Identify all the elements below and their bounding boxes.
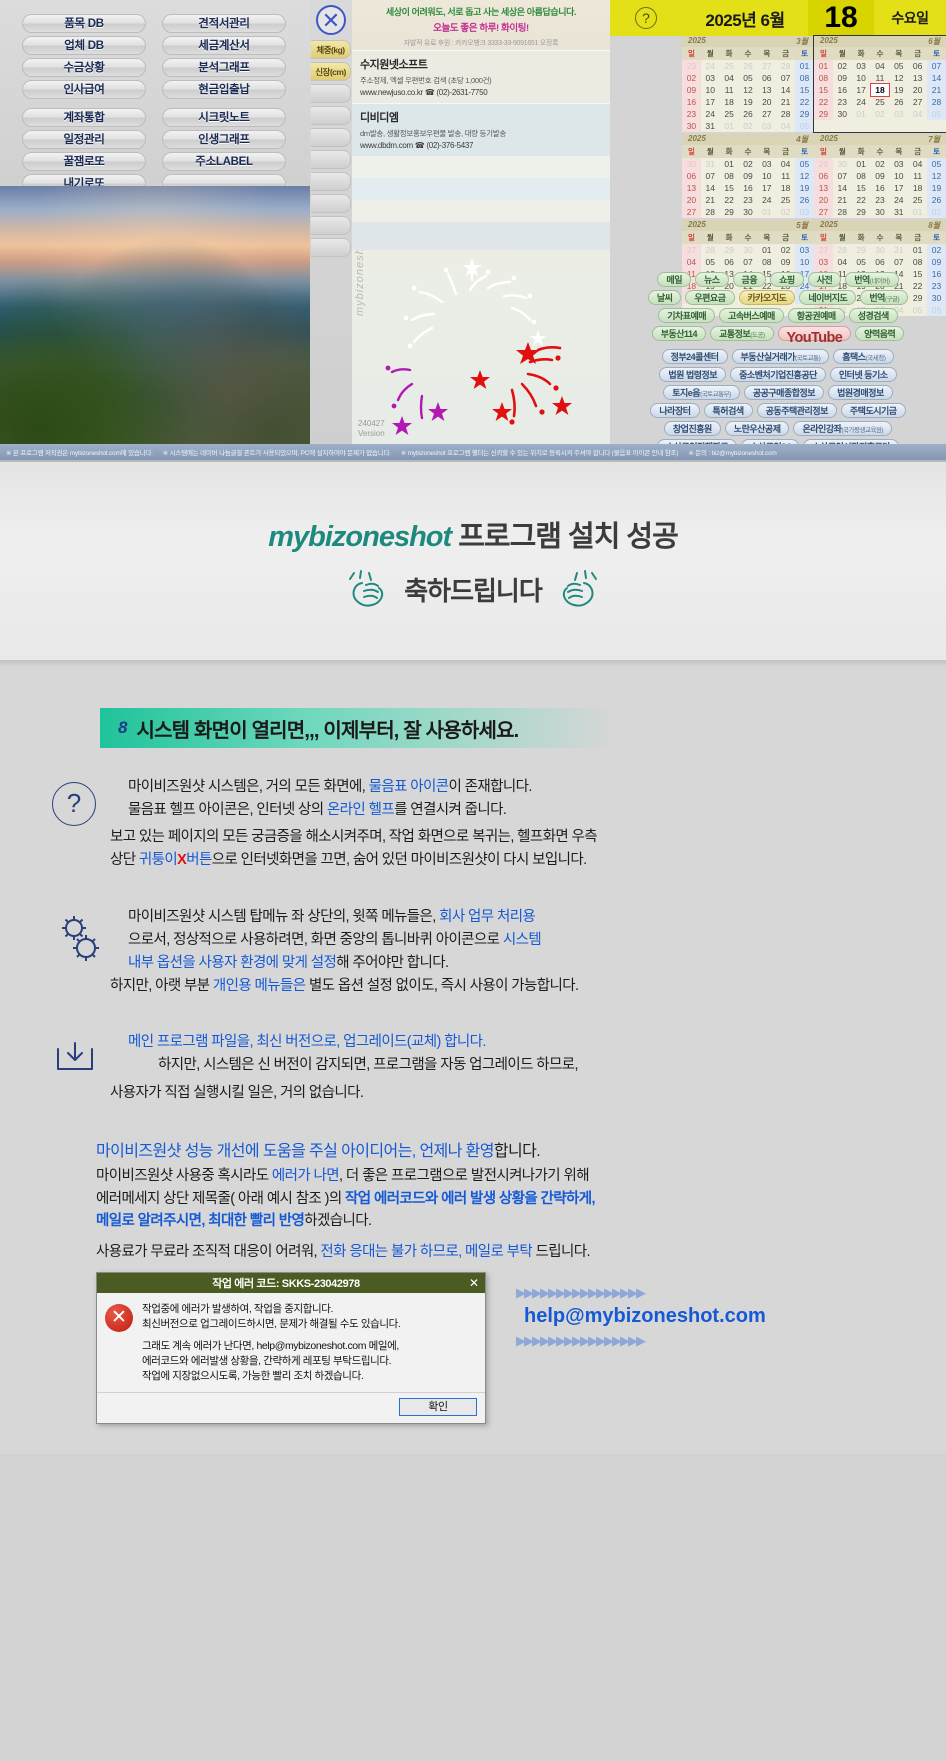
quick-link-sublabel: (국토교통) — [795, 355, 820, 362]
calendar-day-cell[interactable]: 30 — [682, 120, 701, 132]
calendar-day-cell[interactable]: 27 — [757, 60, 776, 72]
ok-button[interactable]: 확인 — [399, 1398, 477, 1416]
calendar-day-cell[interactable]: 02 — [833, 60, 852, 72]
calendar-day-cell[interactable]: 03 — [814, 256, 833, 268]
calendar-day-cell[interactable]: 18 — [720, 96, 739, 108]
calendar-day-cell[interactable]: 13 — [814, 182, 833, 194]
calendar-day-cell[interactable]: 23 — [833, 96, 852, 108]
quick-link-button[interactable]: 메일 — [657, 272, 691, 287]
quick-link-button[interactable]: 공동주택관리정보 — [757, 403, 837, 418]
calendar-day-cell[interactable]: 02 — [776, 206, 795, 218]
calendar-day-cell[interactable]: 09 — [739, 170, 758, 182]
dow-header: 화 — [720, 145, 739, 158]
quick-link-button[interactable]: 토지e음(국토교통부) — [663, 385, 740, 400]
calendar-day-cell[interactable]: 09 — [833, 72, 852, 84]
calendar-day-cell[interactable]: 23 — [739, 194, 758, 206]
calendar-day-cell[interactable]: 21 — [927, 84, 946, 96]
calendar-day-cell[interactable]: 01 — [908, 206, 927, 218]
calendar-day-cell[interactable]: 26 — [739, 60, 758, 72]
text-run-x: X — [177, 852, 186, 868]
text-run: 이 존재합니다. — [448, 779, 531, 795]
menu-button[interactable]: 계좌통합 — [22, 108, 146, 127]
calendar-day-cell[interactable]: 04 — [833, 256, 852, 268]
calendar-day-cell[interactable]: 30 — [871, 206, 890, 218]
menu-button[interactable]: 현금입출납 — [162, 80, 286, 99]
calendar-day-cell[interactable]: 03 — [795, 244, 814, 256]
quick-link-button[interactable]: 인터넷 등기소 — [830, 367, 897, 382]
mini-calendar[interactable]: 20257월일월화수목금토293001020304050607080910111… — [814, 134, 946, 218]
calendar-day-cell[interactable]: 30 — [682, 158, 701, 170]
ad-slot-empty[interactable] — [352, 200, 610, 222]
dialog-body: ✕ 작업중에 에러가 발생하여, 작업을 중지합니다. 최신버전으로 업그레이드… — [97, 1293, 485, 1392]
calendar-day-cell[interactable]: 20 — [814, 194, 833, 206]
calendar-day-cell[interactable]: 20 — [757, 96, 776, 108]
calendar-day-cell[interactable]: 02 — [927, 206, 946, 218]
calendar-day-cell[interactable]: 11 — [871, 72, 890, 84]
quick-link-button[interactable]: 공공구매종합정보 — [744, 385, 824, 400]
fireworks-graphic — [352, 250, 610, 444]
calendar-day-cell[interactable]: 08 — [720, 170, 739, 182]
quick-link-label: 토지e음 — [672, 388, 700, 398]
mini-calendar-header: 20255월 — [682, 220, 814, 231]
calendar-day-cell[interactable]: 09 — [776, 256, 795, 268]
calendar-day-cell[interactable]: 10 — [889, 170, 908, 182]
calendar-day-cell[interactable]: 15 — [852, 182, 871, 194]
calendar-day-cell[interactable]: 18 — [776, 182, 795, 194]
calendar-day-cell[interactable]: 18 — [871, 84, 890, 96]
quick-link-label: 항공권예매 — [797, 311, 836, 321]
calendar-day-cell[interactable]: 01 — [757, 206, 776, 218]
tab-empty[interactable]: . — [311, 106, 351, 125]
calendar-day-cell[interactable]: 02 — [871, 108, 890, 120]
menu-button[interactable]: 시크릿노트 — [162, 108, 286, 127]
quick-link-button[interactable]: 나라장터 — [650, 403, 699, 418]
calendar-day-cell[interactable]: 05 — [927, 158, 946, 170]
calendar-day-cell[interactable]: 01 — [757, 244, 776, 256]
mini-calendar-table: 일월화수목금토010203040506070809101112131415161… — [814, 47, 946, 120]
calendar-day-cell[interactable]: 29 — [852, 206, 871, 218]
calendar-day-cell[interactable]: 05 — [889, 60, 908, 72]
link-row: 창업진흥원노란우산공제온라인강좌(국가평생교육원) — [610, 421, 946, 436]
tab-empty[interactable]: . — [311, 150, 351, 169]
calendar-day-cell[interactable]: 29 — [720, 244, 739, 256]
calendar-day-cell[interactable]: 05 — [927, 108, 946, 120]
quick-link-button[interactable]: 교통정보(도공) — [710, 326, 773, 341]
quick-link-button[interactable]: 노란우산공제 — [725, 421, 790, 436]
dow-header: 월 — [701, 47, 720, 60]
calendar-day-cell[interactable]: 15 — [720, 182, 739, 194]
calendar-day-cell[interactable]: 30 — [833, 158, 852, 170]
calendar-day-cell[interactable]: 06 — [682, 170, 701, 182]
calendar-day-cell[interactable]: 29 — [814, 108, 833, 120]
calendar-day-cell[interactable]: 02 — [739, 120, 758, 132]
mini-calendar-header: 20253월 — [682, 36, 814, 47]
calendar-day-cell[interactable]: 19 — [739, 96, 758, 108]
quick-link-label: 번역 — [854, 275, 870, 285]
tab-height[interactable]: 신장(cm) — [311, 62, 351, 81]
calendar-day-cell[interactable]: 31 — [889, 244, 908, 256]
calendar-day-cell[interactable]: 25 — [776, 194, 795, 206]
calendar-day-cell[interactable]: 01 — [720, 120, 739, 132]
calendar-day-cell[interactable]: 26 — [739, 108, 758, 120]
mini-calendar[interactable]: 20256월일월화수목금토010203040506070809101112131… — [814, 36, 946, 132]
calendar-day-cell[interactable]: 01 — [852, 108, 871, 120]
calendar-day-cell[interactable]: 07 — [701, 170, 720, 182]
calendar-day-cell[interactable]: 24 — [852, 96, 871, 108]
text-run-highlight: 하므로, 메일로 부탁 — [416, 1244, 535, 1260]
mini-calendar-table: 일월화수목금토232425262728010203040506070809101… — [682, 47, 814, 132]
tab-empty[interactable]: . — [311, 128, 351, 147]
calendar-day-cell[interactable]: 24 — [757, 194, 776, 206]
calendar-day-cell[interactable]: 31 — [889, 206, 908, 218]
calendar-day-cell[interactable]: 10 — [852, 72, 871, 84]
calendar-day-cell[interactable]: 29 — [720, 206, 739, 218]
calendar-day-cell[interactable]: 02 — [682, 72, 701, 84]
tab-empty[interactable]: . — [311, 194, 351, 213]
calendar-day-cell[interactable]: 29 — [852, 244, 871, 256]
calendar-day-cell[interactable]: 05 — [795, 120, 814, 132]
quick-link-button[interactable]: 정부24콜센터 — [662, 349, 728, 364]
calendar-day-cell[interactable]: 16 — [739, 182, 758, 194]
calendar-day-cell[interactable]: 27 — [908, 96, 927, 108]
calendar-day-cell[interactable]: 03 — [757, 158, 776, 170]
calendar-day-cell[interactable]: 23 — [682, 60, 701, 72]
calendar-day-cell[interactable]: 07 — [833, 170, 852, 182]
calendar-day-cell[interactable]: 04 — [720, 72, 739, 84]
calendar-day-cell[interactable]: 01 — [852, 158, 871, 170]
calendar-day-cell[interactable]: 10 — [701, 84, 720, 96]
calendar-day-cell[interactable]: 28 — [701, 206, 720, 218]
calendar-day-cell[interactable]: 25 — [720, 60, 739, 72]
calendar-day-cell[interactable]: 31 — [701, 120, 720, 132]
quick-link-button[interactable]: 항공권예매 — [788, 308, 845, 323]
calendar-day-cell[interactable]: 19 — [889, 84, 908, 96]
dow-header: 토 — [927, 231, 946, 244]
ad-slot-empty[interactable] — [352, 156, 610, 178]
calendar-day-cell[interactable]: 08 — [908, 256, 927, 268]
tab-empty[interactable]: . — [311, 172, 351, 191]
calendar-day-cell[interactable]: 10 — [795, 256, 814, 268]
calendar-day-cell[interactable]: 09 — [682, 84, 701, 96]
quick-link-button[interactable]: 우편요금 — [685, 290, 734, 305]
ad-contact[interactable]: www.dbdm.com ☎ (02)-376-5437 — [360, 141, 602, 150]
calendar-day-cell[interactable]: 02 — [927, 244, 946, 256]
calendar-day-cell[interactable]: 23 — [682, 108, 701, 120]
quick-link-button[interactable]: 성경검색 — [849, 308, 898, 323]
calendar-day-cell[interactable]: 22 — [814, 96, 833, 108]
calendar-day-cell[interactable]: 24 — [701, 60, 720, 72]
quick-link-button[interactable]: 카카오지도 — [739, 290, 796, 305]
quick-link-button[interactable]: 온라인강좌(국가평생교육원) — [793, 421, 892, 436]
dow-header: 수 — [871, 145, 890, 158]
calendar-day-cell[interactable]: 04 — [871, 60, 890, 72]
calendar-day-cell[interactable]: 13 — [908, 72, 927, 84]
download-block-icon — [52, 1031, 128, 1082]
calendar-day-cell[interactable]: 29 — [814, 158, 833, 170]
calendar-day-cell[interactable]: 06 — [871, 256, 890, 268]
ad-contact[interactable]: www.newjuso.co.kr ☎ (02)-2631-7750 — [360, 88, 602, 97]
quick-link-sublabel: (국가평생교육원) — [841, 427, 883, 434]
menu-button[interactable]: 꿀잼로또 — [22, 152, 146, 171]
calendar-day-cell[interactable]: 01 — [720, 158, 739, 170]
version-number: 240427 — [358, 419, 385, 428]
calendar-day-cell[interactable]: 19 — [795, 182, 814, 194]
calendar-day-cell[interactable]: 08 — [757, 256, 776, 268]
calendar-day-cell[interactable]: 12 — [889, 72, 908, 84]
calendar-day-cell[interactable]: 02 — [776, 244, 795, 256]
menu-column-left: 품목 DB업체 DB수금상황인사급여계좌통합일정관리꿀잼로또내기로또 — [22, 14, 146, 196]
calendar-day-cell[interactable]: 12 — [927, 170, 946, 182]
calendar-day-cell[interactable]: 17 — [852, 84, 871, 96]
quick-link-button[interactable]: 창업진흥원 — [664, 421, 721, 436]
mini-calendar-table: 일월화수목금토303101020304050607080910111213141… — [682, 145, 814, 218]
calendar-day-cell[interactable]: 02 — [739, 158, 758, 170]
calendar-day-cell[interactable]: 27 — [814, 244, 833, 256]
quick-link-button[interactable]: 부동산실거래가(국토교통) — [732, 349, 830, 364]
quick-link-button[interactable]: 쇼핑 — [770, 272, 804, 287]
menu-button[interactable]: 수금상황 — [22, 58, 146, 77]
calendar-day-cell[interactable]: 24 — [889, 194, 908, 206]
mini-calendar-month: 7월 — [928, 134, 940, 145]
close-icon[interactable]: ✕ — [469, 1276, 479, 1290]
tab-weight[interactable]: 체중(kg) — [311, 40, 351, 59]
text-run: 별도 옵션 설정 없이도, 즉시 사용이 가능합니다. — [306, 978, 579, 994]
calendar-day-cell[interactable]: 28 — [833, 244, 852, 256]
calendar-day-cell[interactable]: 08 — [852, 170, 871, 182]
support-email[interactable]: help@mybizoneshot.com — [524, 1305, 766, 1328]
question-icon[interactable]: ? — [635, 7, 657, 29]
calendar-day-cell[interactable]: 25 — [720, 108, 739, 120]
calendar-day-cell[interactable]: 06 — [720, 256, 739, 268]
quick-link-label: 특허검색 — [713, 406, 744, 416]
calendar-day-cell[interactable]: 22 — [852, 194, 871, 206]
calendar-day-cell[interactable]: 23 — [871, 194, 890, 206]
tab-empty[interactable]: . — [311, 84, 351, 103]
calendar-day-cell[interactable]: 13 — [757, 84, 776, 96]
calendar-day-cell[interactable]: 14 — [833, 182, 852, 194]
menu-button[interactable]: 견적서관리 — [162, 14, 286, 33]
calendar-day-cell[interactable]: 03 — [852, 60, 871, 72]
close-icon[interactable]: ✕ — [316, 5, 346, 35]
calendar-day-cell[interactable]: 27 — [682, 206, 701, 218]
calendar-day-cell[interactable]: 03 — [889, 108, 908, 120]
calendar-day-cell[interactable]: 06 — [757, 72, 776, 84]
brand-name: mybizoneshot — [268, 521, 451, 553]
calendar-day-cell[interactable]: 04 — [682, 256, 701, 268]
quick-link-button[interactable]: 양력음력 — [855, 326, 904, 341]
calendar-day-cell[interactable]: 20 — [682, 194, 701, 206]
calendar-day-cell[interactable]: 07 — [889, 256, 908, 268]
calendar-day-cell[interactable]: 09 — [927, 256, 946, 268]
menu-button[interactable]: 주소LABEL — [162, 152, 286, 171]
quick-link-button[interactable]: 날씨 — [648, 290, 682, 305]
calendar-day-cell[interactable]: 20 — [908, 84, 927, 96]
calendar-day-cell[interactable]: 28 — [776, 60, 795, 72]
quick-link-button[interactable]: 특허검색 — [704, 403, 753, 418]
tab-empty[interactable]: . — [311, 238, 351, 257]
calendar-day-cell[interactable]: 17 — [757, 182, 776, 194]
calendar-day-cell[interactable]: 27 — [757, 108, 776, 120]
calendar-day-cell[interactable]: 01 — [814, 60, 833, 72]
calendar-day-cell[interactable]: 15 — [814, 84, 833, 96]
fireworks-panel: mybizoneshot 240427 Version — [352, 250, 610, 444]
calendar-day-cell[interactable]: 04 — [776, 158, 795, 170]
text-run-highlight: 버튼 — [186, 852, 211, 868]
text-run-highlight: 시스템 — [503, 932, 541, 948]
calendar-day-cell[interactable]: 13 — [682, 182, 701, 194]
menu-button[interactable]: 분석그래프 — [162, 58, 286, 77]
calendar-day-cell[interactable]: 31 — [701, 158, 720, 170]
calendar-day-cell[interactable]: 30 — [739, 206, 758, 218]
calendar-day-cell[interactable]: 25 — [871, 96, 890, 108]
calendar-day-cell[interactable]: 10 — [757, 170, 776, 182]
calendar-day-cell[interactable]: 21 — [776, 96, 795, 108]
quick-link-button[interactable]: 법원 법령정보 — [659, 367, 726, 382]
menu-button[interactable]: 업체 DB — [22, 36, 146, 55]
quick-link-sublabel: (국세청) — [866, 355, 886, 362]
calendar-day-cell[interactable]: 26 — [795, 194, 814, 206]
mini-calendar-month: 6월 — [928, 36, 940, 47]
calendar-day-cell[interactable]: 07 — [739, 256, 758, 268]
calendar-day-cell[interactable]: 21 — [701, 194, 720, 206]
calendar-day-cell[interactable]: 14 — [776, 84, 795, 96]
tab-empty[interactable]: . — [311, 216, 351, 235]
calendar-day-cell[interactable]: 04 — [908, 158, 927, 170]
dialog-message: 작업중에 에러가 발생하여, 작업을 중지합니다. 최신버전으로 업그레이드하시… — [142, 1302, 400, 1384]
dow-header: 금 — [908, 145, 927, 158]
calendar-day-cell[interactable]: 11 — [908, 170, 927, 182]
calendar-day-cell[interactable]: 24 — [701, 108, 720, 120]
help-icon-wrap[interactable]: ? — [610, 0, 682, 36]
ad-card[interactable]: 수지원넷소프트 주소정제, 엑셀 우편번호 검색 (초당 1,000건) www… — [352, 50, 610, 103]
calendar-day-cell[interactable]: 21 — [833, 194, 852, 206]
calendar-day-cell[interactable]: 16 — [682, 96, 701, 108]
calendar-day-cell[interactable]: 18 — [908, 182, 927, 194]
gear-block-body: 마이비즈원샷 시스템 탑메뉴 좌 상단의, 윗쪽 메뉴들은, 회사 업무 처리용… — [128, 906, 906, 975]
scenery-photo — [0, 186, 310, 444]
quick-link-button[interactable]: 주택도시기금 — [841, 403, 906, 418]
text-run: 마이비즈원샷 사용중 혹시라도 — [96, 1168, 272, 1184]
quick-link-button[interactable]: 기차표예매 — [658, 308, 715, 323]
menu-button[interactable]: 인생그래프 — [162, 130, 286, 149]
calendar-day-cell[interactable]: 08 — [814, 72, 833, 84]
calendar-day-cell[interactable]: 27 — [682, 244, 701, 256]
calendar-day-cell[interactable]: 01 — [795, 60, 814, 72]
calendar-day-cell[interactable]: 03 — [757, 120, 776, 132]
calendar-day-cell[interactable]: 12 — [795, 170, 814, 182]
calendar-day-cell[interactable]: 16 — [871, 182, 890, 194]
calendar-today-number: 18 — [808, 0, 874, 36]
quick-link-button[interactable]: 중소벤처기업진흥공단 — [730, 367, 826, 382]
calendar-day-cell[interactable]: 28 — [701, 244, 720, 256]
calendar-day-cell[interactable]: 29 — [795, 108, 814, 120]
quick-link-button[interactable]: 번역(네이버) — [845, 272, 898, 287]
calendar-day-cell[interactable]: 15 — [795, 84, 814, 96]
calendar-day-cell[interactable]: 14 — [927, 72, 946, 84]
calendar-day-cell[interactable]: 03 — [701, 72, 720, 84]
calendar-day-cell[interactable]: 22 — [795, 96, 814, 108]
text-run: 마이비즈원샷 시스템 탑메뉴 좌 상단의, 윗쪽 메뉴들은, — [128, 909, 439, 925]
quick-link-button[interactable]: 고속버스예매 — [719, 308, 784, 323]
calendar-day-cell[interactable]: 05 — [739, 72, 758, 84]
calendar-day-cell[interactable]: 25 — [908, 194, 927, 206]
calendar-day-cell[interactable]: 03 — [795, 206, 814, 218]
menu-button[interactable]: 일정관리 — [22, 130, 146, 149]
calendar-day-cell[interactable]: 28 — [833, 206, 852, 218]
calendar-day-cell[interactable]: 28 — [927, 96, 946, 108]
quick-link-button[interactable]: YouTube — [778, 326, 852, 341]
quick-link-label: 부동산실거래가 — [741, 352, 795, 362]
quick-link-label: 번역 — [869, 293, 885, 303]
mini-calendar[interactable]: 20253월일월화수목금토232425262728010203040506070… — [682, 36, 814, 132]
mini-calendar[interactable]: 20254월일월화수목금토303101020304050607080910111… — [682, 134, 814, 218]
calendar-day-cell[interactable]: 19 — [927, 182, 946, 194]
calendar-day-cell[interactable]: 07 — [776, 72, 795, 84]
calendar-day-cell[interactable]: 05 — [701, 256, 720, 268]
calendar-day-cell[interactable]: 27 — [814, 206, 833, 218]
dow-header: 목 — [757, 145, 776, 158]
quick-link-button[interactable]: 홈택스(국세청) — [833, 349, 894, 364]
calendar-day-cell[interactable]: 05 — [795, 158, 814, 170]
quick-link-button[interactable]: 사전 — [808, 272, 842, 287]
text-run: 를 연결시켜 줍니다. — [394, 802, 506, 818]
quick-link-button[interactable]: 금융 — [733, 272, 767, 287]
quick-link-button[interactable]: 네이버지도 — [799, 290, 856, 305]
text-run-highlight: 회사 업무 처리용 — [439, 909, 535, 925]
calendar-day-cell[interactable]: 11 — [720, 84, 739, 96]
calendar-day-cell[interactable]: 26 — [889, 96, 908, 108]
calendar-day-cell[interactable]: 02 — [871, 158, 890, 170]
calendar-day-cell[interactable]: 22 — [720, 194, 739, 206]
quick-link-button[interactable]: 법원경매정보 — [828, 385, 893, 400]
calendar-day-cell[interactable]: 01 — [908, 244, 927, 256]
statusbar-note: ※ 본 프로그램 저작권은 mybizoneshot.com에 있습니다. — [6, 447, 153, 457]
quick-link-button[interactable]: 뉴스 — [695, 272, 729, 287]
quick-link-button[interactable]: 번역(구글) — [860, 290, 908, 305]
calendar-day-cell[interactable]: 03 — [889, 158, 908, 170]
calendar-day-cell[interactable]: 08 — [795, 72, 814, 84]
calendar-day-cell[interactable]: 17 — [701, 96, 720, 108]
calendar-day-cell[interactable]: 16 — [833, 84, 852, 96]
congrats-line: 축하드립니다 — [348, 569, 598, 609]
calendar-day-cell[interactable]: 09 — [871, 170, 890, 182]
ad-card[interactable]: 디비디엠 dm발송, 생활정보홍보우편물 발송, 대량 등기발송 www.dbd… — [352, 103, 610, 156]
calendar-day-cell[interactable]: 11 — [776, 170, 795, 182]
calendar-day-cell[interactable]: 04 — [908, 108, 927, 120]
calendar-day-cell[interactable]: 12 — [739, 84, 758, 96]
calendar-day-cell[interactable]: 28 — [776, 108, 795, 120]
calendar-day-cell[interactable]: 26 — [927, 194, 946, 206]
calendar-day-cell[interactable]: 30 — [871, 244, 890, 256]
menu-button[interactable]: 품목 DB — [22, 14, 146, 33]
calendar-day-cell[interactable]: 07 — [927, 60, 946, 72]
calendar-day-cell[interactable]: 05 — [852, 256, 871, 268]
calendar-day-cell[interactable]: 04 — [776, 120, 795, 132]
ad-slot-empty[interactable] — [352, 178, 610, 200]
gear-paragraph-1: 마이비즈원샷 시스템 탑메뉴 좌 상단의, 윗쪽 메뉴들은, 회사 업무 처리용 — [128, 906, 906, 929]
calendar-day-cell[interactable]: 30 — [739, 244, 758, 256]
calendar-day-cell[interactable]: 06 — [908, 60, 927, 72]
feedback-paragraph-4: 메일로 알려주시면, 최대한 빨리 반영하겠습니다. — [96, 1210, 906, 1233]
calendar-day-cell[interactable]: 17 — [889, 182, 908, 194]
quick-link-button[interactable]: 부동산114 — [652, 326, 706, 341]
dow-header: 화 — [852, 231, 871, 244]
menu-button[interactable]: 인사급여 — [22, 80, 146, 99]
menu-button[interactable]: 세금계산서 — [162, 36, 286, 55]
calendar-day-cell[interactable]: 14 — [701, 182, 720, 194]
calendar-day-cell[interactable]: 06 — [814, 170, 833, 182]
calendar-day-cell[interactable]: 30 — [833, 108, 852, 120]
